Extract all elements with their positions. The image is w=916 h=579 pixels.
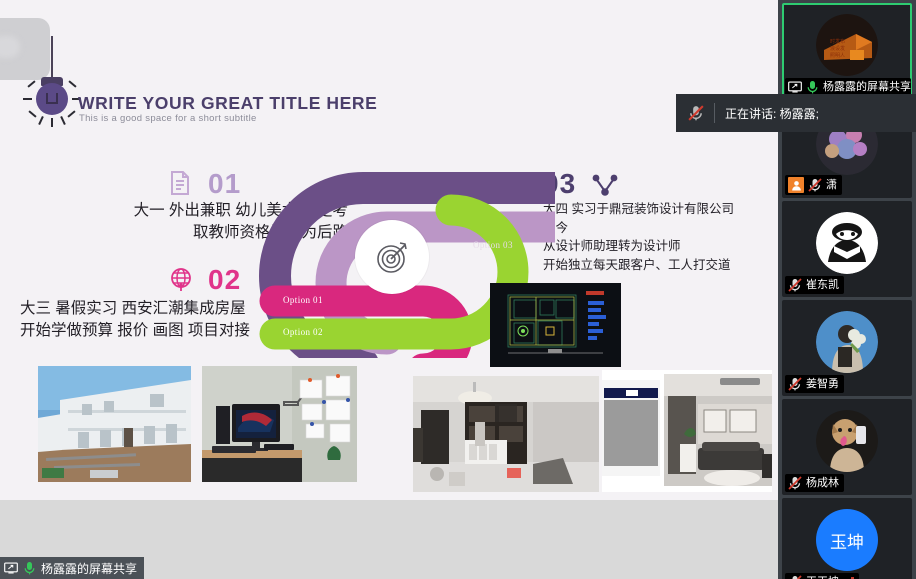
photo-cad-floorplan	[490, 283, 621, 367]
spiral-option-label-02: Option 02	[283, 327, 323, 337]
presentation-slide: WRITE YOUR GREAT TITLE HERE This is a go…	[0, 0, 778, 500]
screen-share-icon	[788, 81, 802, 93]
avatar	[816, 311, 878, 373]
zoom-meeting-window: WRITE YOUR GREAT TITLE HERE This is a go…	[0, 0, 916, 579]
nameplate: 崔东凯	[785, 276, 844, 294]
participant-name: 姜智勇	[806, 377, 839, 391]
document-icon	[170, 171, 190, 195]
lightbulb-icon	[22, 36, 82, 126]
participant-name: 潇	[826, 178, 837, 192]
bottom-share-label: 杨露露的屏幕共享	[0, 557, 144, 579]
mic-on-icon	[23, 561, 36, 575]
svg-text:浪设发: 浪设发	[830, 45, 845, 52]
mic-muted-icon	[788, 476, 802, 490]
mic-on-icon	[806, 80, 819, 94]
spiral-option-label-01: Option 01	[283, 295, 323, 305]
svg-text:时发布: 时发布	[830, 38, 845, 45]
participant-rail[interactable]: 时发布浪设发照明人 杨露露的屏幕共享	[778, 0, 916, 579]
svg-text:照明人: 照明人	[830, 53, 845, 59]
participant-name: 崔东凯	[806, 278, 839, 292]
participant-tile-yangchenglin[interactable]: 杨成林	[782, 399, 912, 495]
mic-muted-icon	[788, 377, 802, 391]
photo-modular-building	[38, 366, 191, 482]
participant-tile-share[interactable]: 时发布浪设发照明人 杨露露的屏幕共享	[782, 3, 912, 99]
mic-muted-icon	[688, 105, 704, 121]
photo-office-desk	[202, 366, 357, 482]
nameplate: 潇	[785, 175, 842, 195]
globe-upload-icon	[170, 268, 192, 292]
avatar	[816, 212, 878, 274]
mic-muted-icon	[788, 278, 802, 292]
avatar-initials-text: 玉坤	[830, 528, 864, 553]
banner-divider	[714, 103, 715, 123]
participant-name: 杨露露的屏幕共享	[823, 80, 911, 94]
participant-name: 王玉坤	[806, 575, 839, 579]
mic-muted-icon	[808, 178, 822, 192]
shared-screen-area: WRITE YOUR GREAT TITLE HERE This is a go…	[0, 0, 778, 579]
photo-living-room-render	[602, 370, 772, 492]
network-share-icon	[592, 174, 618, 196]
section-number-01: 01	[208, 168, 241, 200]
section-number-02: 02	[208, 264, 241, 296]
page-subtitle: This is a good space for a short subtitl…	[79, 113, 257, 124]
nameplate: 王玉坤	[785, 573, 859, 579]
avatar-initials: 玉坤	[816, 509, 878, 571]
photo-interior-renovation	[413, 376, 599, 492]
target-icon	[375, 240, 409, 274]
nameplate: 杨成林	[785, 474, 844, 492]
section-text-03: 大四 实习于鼎冠装饰设计有限公司 至今 从设计师助理转为设计师 开始独立每天跟客…	[543, 200, 773, 274]
participant-tile-jiangzhiyong[interactable]: 姜智勇	[782, 300, 912, 396]
bottom-share-text: 杨露露的屏幕共享	[41, 560, 137, 577]
speaking-text: 正在讲话: 杨露露;	[725, 105, 819, 122]
participant-tile-wangyukun[interactable]: 玉坤 王玉坤	[782, 498, 912, 579]
page-title: WRITE YOUR GREAT TITLE HERE	[78, 93, 377, 114]
mic-muted-icon	[788, 575, 802, 579]
avatar: 时发布浪设发照明人	[816, 14, 878, 76]
avatar	[816, 410, 878, 472]
participant-tile-cuidongkai[interactable]: 崔东凯	[782, 201, 912, 297]
nameplate: 姜智勇	[785, 375, 844, 393]
host-icon	[788, 177, 804, 193]
speaking-banner: 正在讲话: 杨露露;	[676, 94, 916, 132]
participant-name: 杨成林	[806, 476, 839, 490]
spiral-option-label-03: Option 03	[473, 240, 513, 250]
screen-share-icon	[4, 562, 18, 574]
